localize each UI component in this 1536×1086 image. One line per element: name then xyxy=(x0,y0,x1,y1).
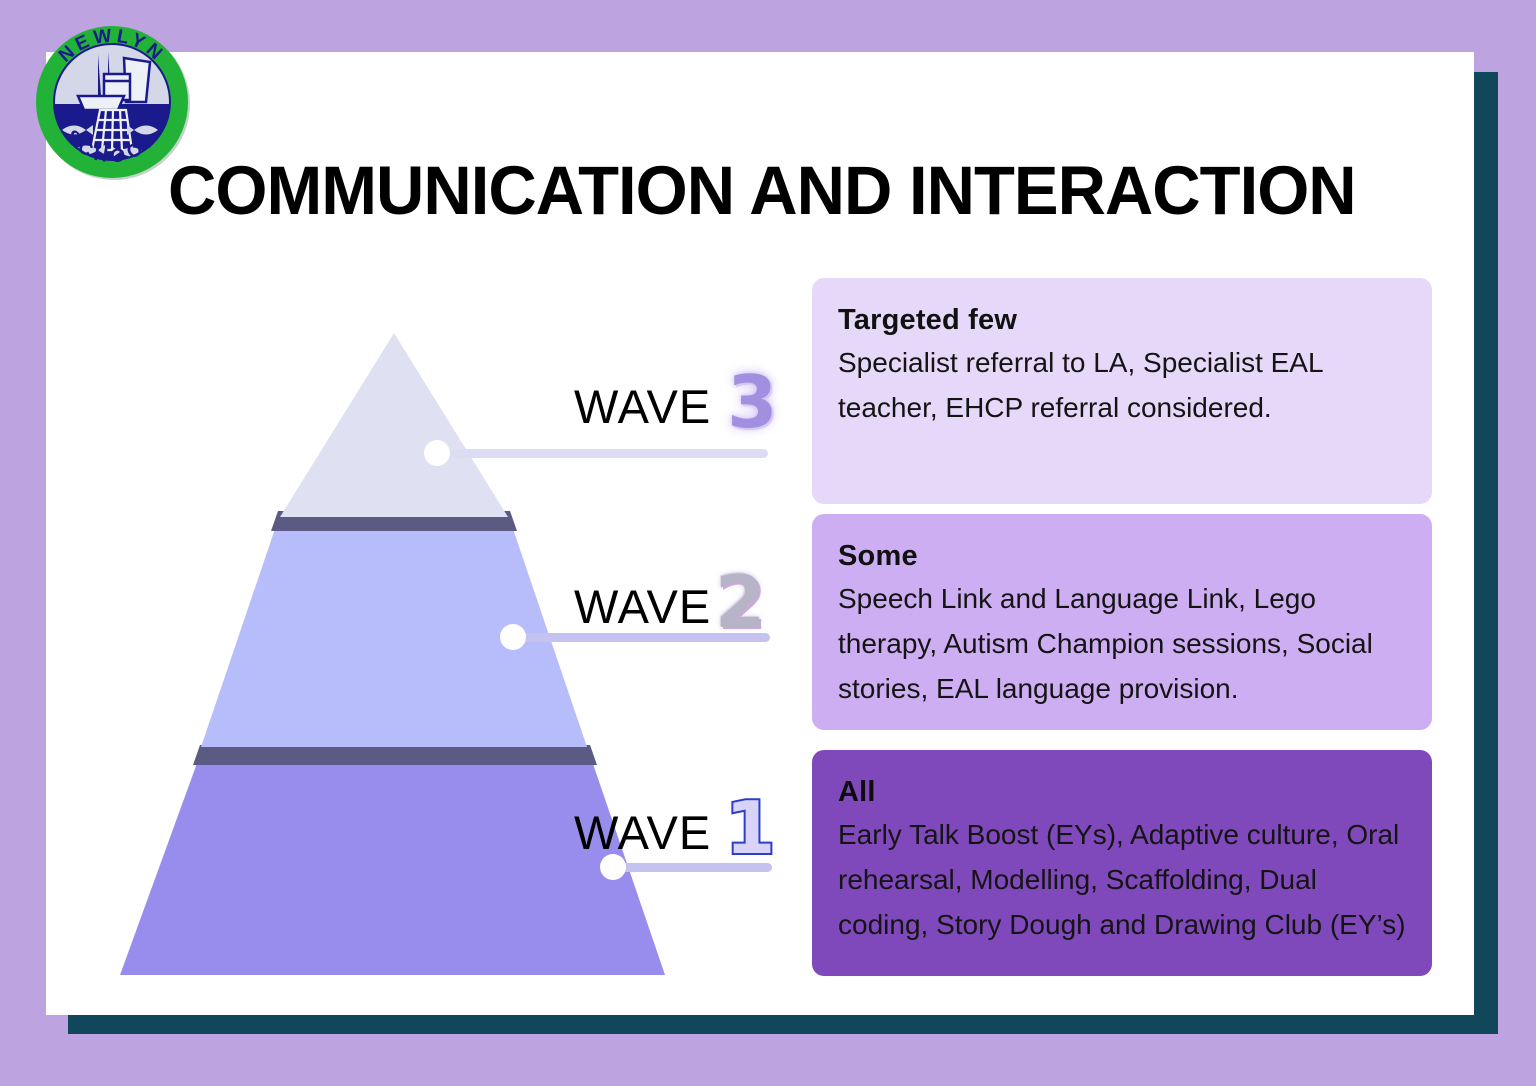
info-card-heading: All xyxy=(838,776,1406,809)
info-card-body: Specialist referral to LA, Specialist EA… xyxy=(838,340,1406,430)
wave-label-3: WAVE 3 xyxy=(574,370,777,442)
wave-number-1: 1 xyxy=(725,792,775,864)
info-card-body: Early Talk Boost (EYs), Adaptive culture… xyxy=(838,812,1406,947)
info-card-heading: Some xyxy=(838,540,1406,573)
wave-number-3: 3 xyxy=(727,366,777,438)
info-card-heading: Targeted few xyxy=(838,304,1406,337)
info-card-some: Some Speech Link and Language Link, Lego… xyxy=(812,514,1432,730)
connector-bar xyxy=(443,449,768,458)
wave-label-1: WAVE 1 xyxy=(574,796,775,868)
pyramid-divider-lower xyxy=(193,745,597,765)
info-card-body: Speech Link and Language Link, Lego ther… xyxy=(838,576,1406,711)
connector-wave3 xyxy=(424,438,768,468)
logo-svg: NEWLYN SCHOOL xyxy=(28,18,196,186)
connector-dot-icon xyxy=(424,440,450,466)
wave-number-2: 2 xyxy=(715,566,765,638)
pyramid-tier-wave3 xyxy=(280,333,508,517)
connector-dot-icon xyxy=(500,624,526,650)
wave-word-3: WAVE xyxy=(574,379,711,434)
wave-word-1: WAVE xyxy=(574,805,711,860)
page-title: COMMUNICATION AND INTERACTION xyxy=(168,152,1410,230)
info-card-all: All Early Talk Boost (EYs), Adaptive cul… xyxy=(812,750,1432,976)
wave-label-2: WAVE 2 xyxy=(574,570,765,642)
newlyn-school-logo: NEWLYN SCHOOL xyxy=(28,18,196,186)
info-card-targeted-few: Targeted few Specialist referral to LA, … xyxy=(812,278,1432,504)
wave-word-2: WAVE xyxy=(574,579,711,634)
